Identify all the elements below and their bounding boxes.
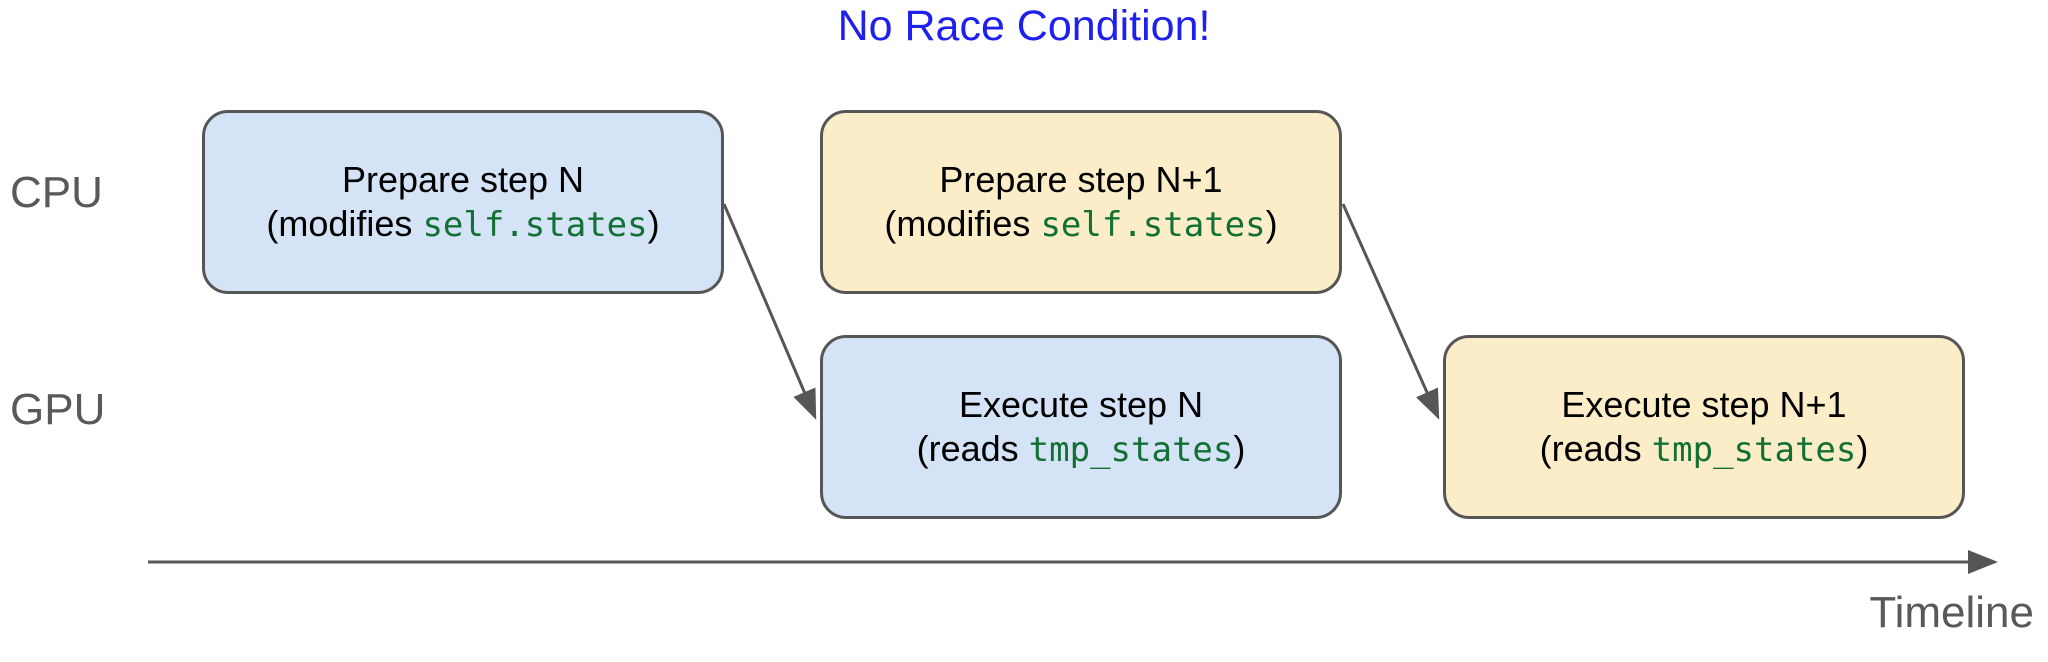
- node-subtitle-code: tmp_states: [1652, 430, 1857, 470]
- node-subtitle-prefix: (modifies: [884, 203, 1040, 244]
- lane-label-gpu: GPU: [10, 385, 105, 435]
- node-subtitle: (modifies self.states): [884, 202, 1277, 246]
- edge-layer: [0, 0, 2048, 662]
- node-title: Prepare step N+1: [939, 158, 1222, 202]
- node-subtitle-prefix: (reads: [1540, 428, 1652, 469]
- node-subtitle: (reads tmp_states): [917, 427, 1246, 471]
- diagram-canvas: No Race Condition! CPU GPU Prepare step …: [0, 0, 2048, 662]
- node-subtitle-code: self.states: [1040, 205, 1265, 245]
- node-subtitle-code: tmp_states: [1029, 430, 1234, 470]
- node-subtitle: (modifies self.states): [266, 202, 659, 246]
- edge-cpu-step-n-to-gpu-step-n: [724, 204, 815, 417]
- edge-cpu-step-n-plus-1-to-gpu-step-n-plus-1: [1343, 204, 1438, 417]
- node-title: Execute step N: [959, 383, 1203, 427]
- node-subtitle-suffix: ): [1233, 428, 1245, 469]
- node-cpu-step-n-plus-1[interactable]: Prepare step N+1 (modifies self.states): [820, 110, 1342, 294]
- node-title: Execute step N+1: [1561, 383, 1846, 427]
- node-subtitle: (reads tmp_states): [1540, 427, 1869, 471]
- node-gpu-step-n[interactable]: Execute step N (reads tmp_states): [820, 335, 1342, 519]
- lane-label-cpu: CPU: [10, 168, 103, 218]
- timeline-axis-label: Timeline: [1869, 588, 2034, 638]
- node-subtitle-code: self.states: [422, 205, 647, 245]
- node-subtitle-suffix: ): [648, 203, 660, 244]
- node-subtitle-prefix: (modifies: [266, 203, 422, 244]
- node-subtitle-suffix: ): [1856, 428, 1868, 469]
- node-title: Prepare step N: [342, 158, 584, 202]
- node-subtitle-prefix: (reads: [917, 428, 1029, 469]
- diagram-title: No Race Condition!: [0, 2, 2048, 51]
- node-gpu-step-n-plus-1[interactable]: Execute step N+1 (reads tmp_states): [1443, 335, 1965, 519]
- node-cpu-step-n[interactable]: Prepare step N (modifies self.states): [202, 110, 724, 294]
- node-subtitle-suffix: ): [1266, 203, 1278, 244]
